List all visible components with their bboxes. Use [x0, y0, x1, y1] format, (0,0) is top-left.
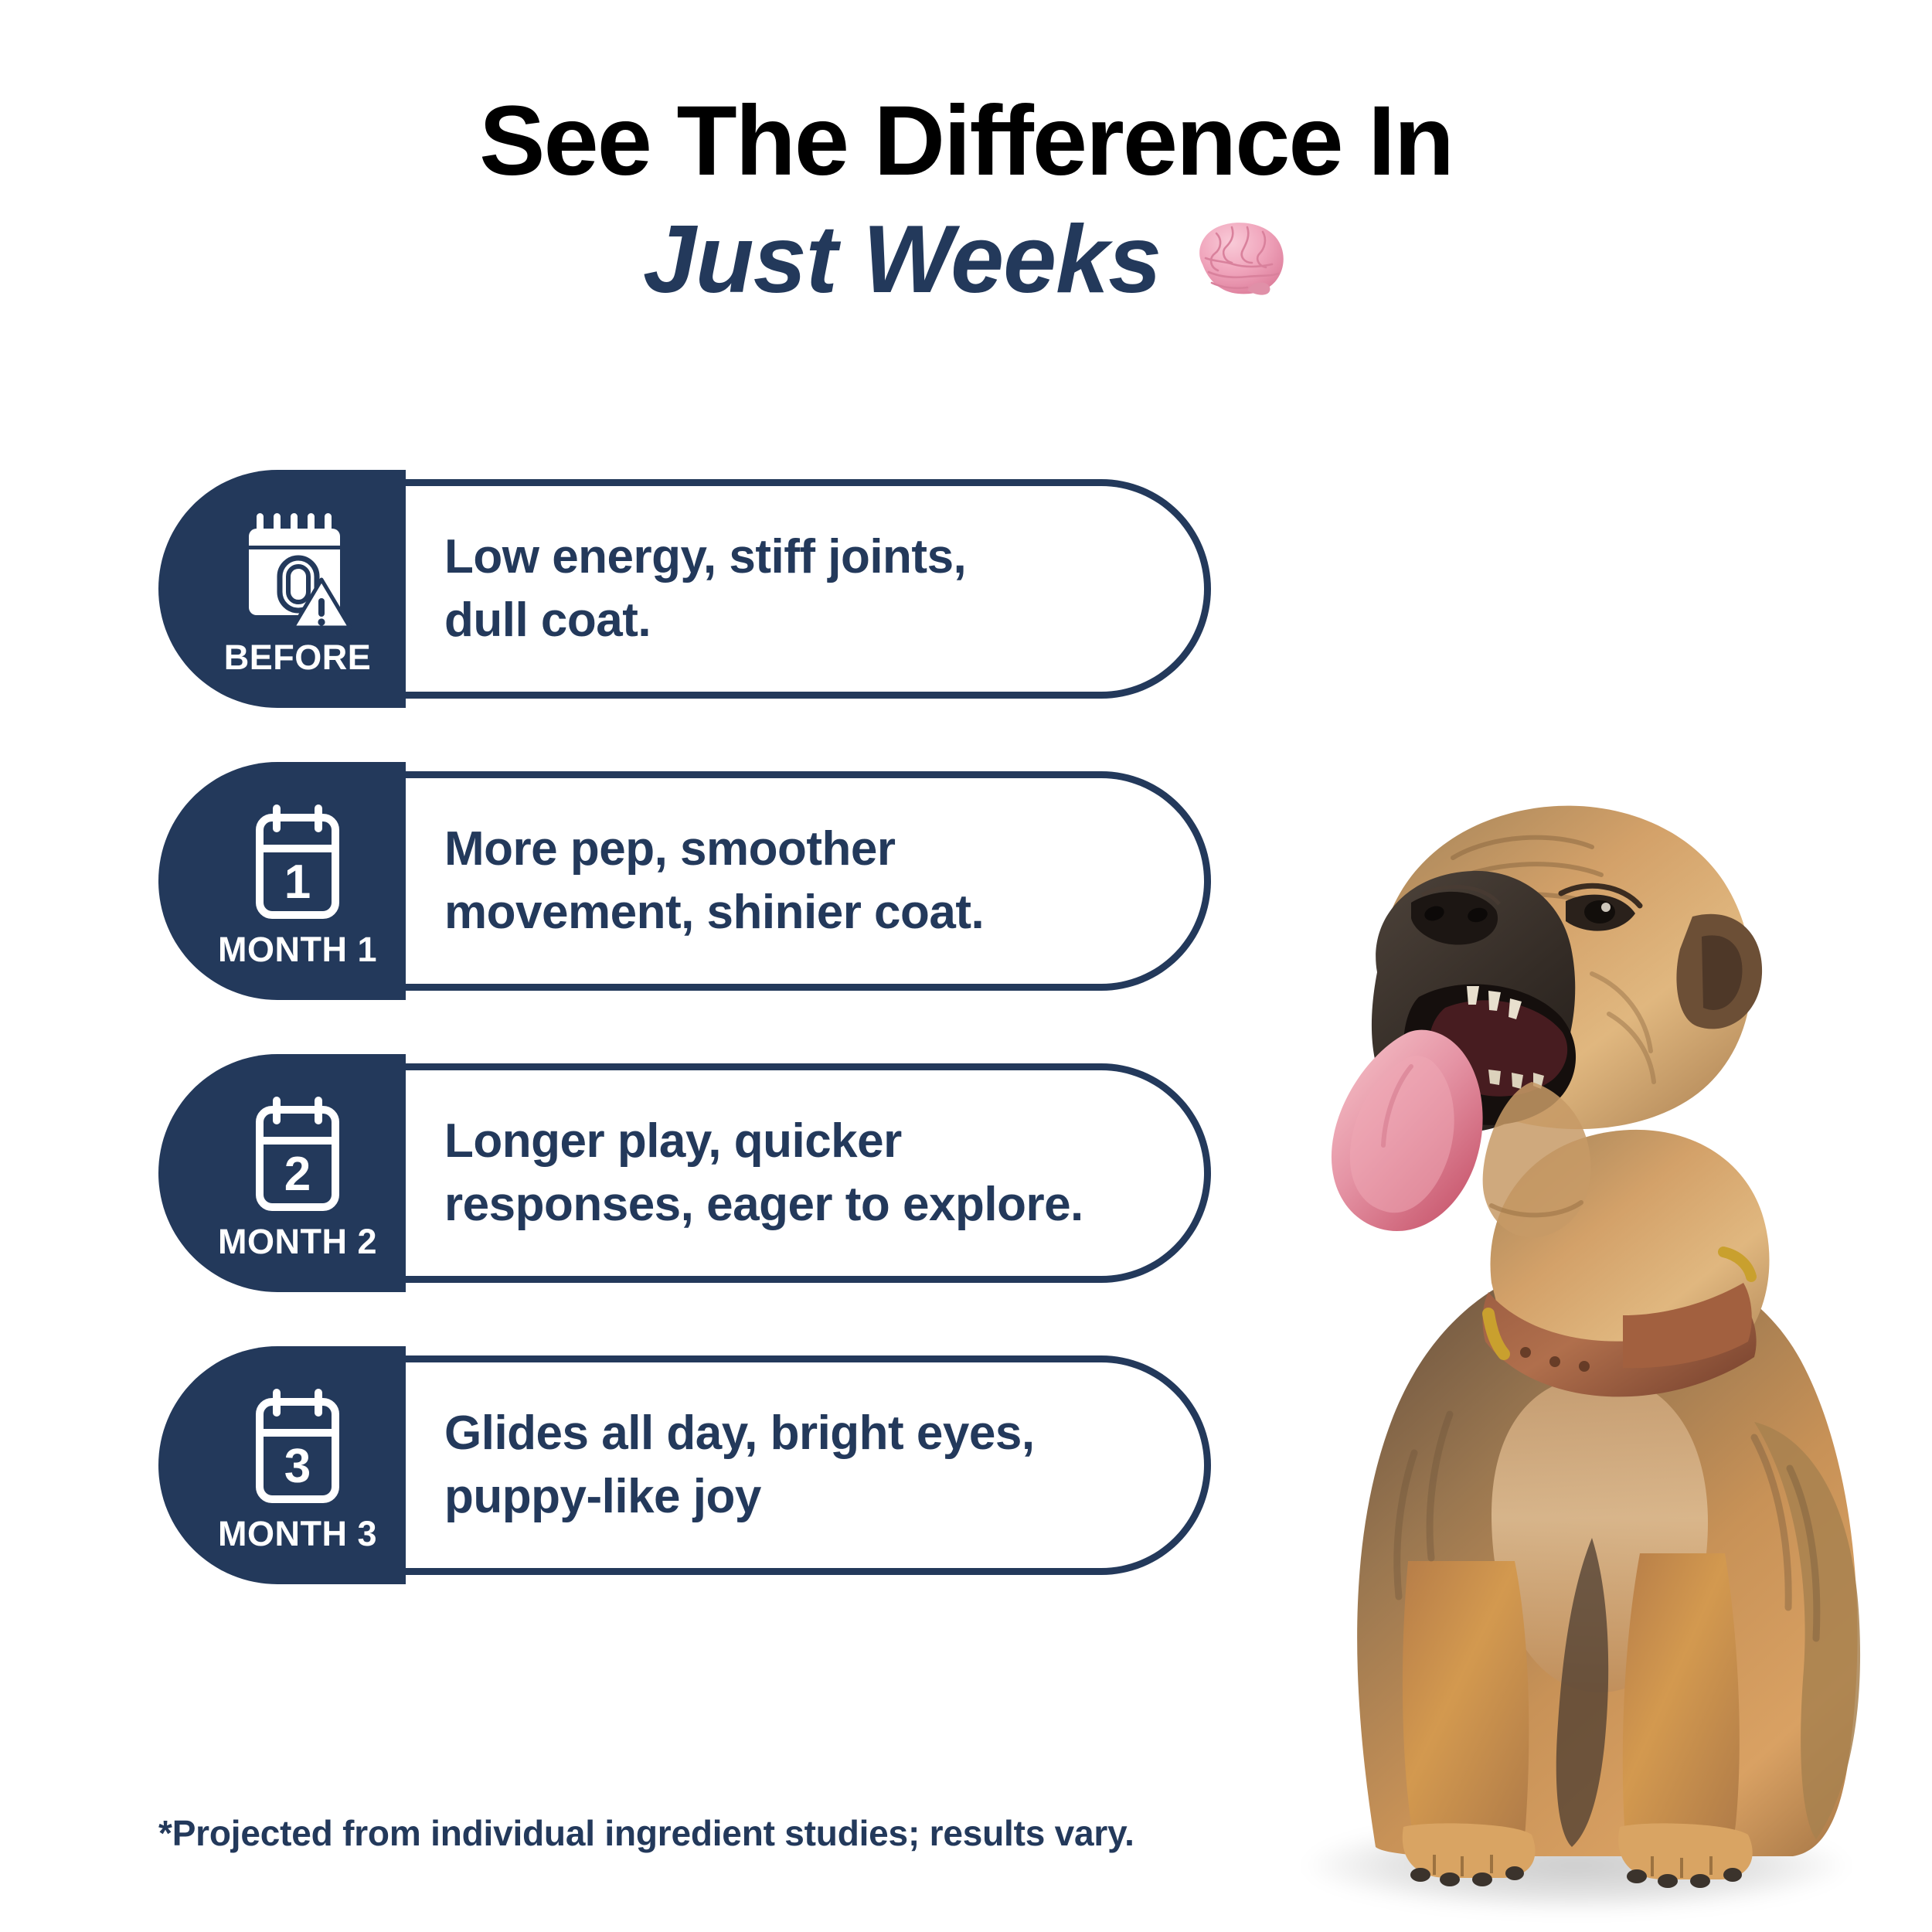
- card-text-line-2: dull coat.: [444, 594, 651, 647]
- calendar-icon: 2: [240, 1096, 355, 1219]
- card-text-line-1: Longer play, quicker: [444, 1114, 902, 1168]
- card-text: Glides all day, bright eyes, puppy-like …: [444, 1346, 1118, 1584]
- title-line-2: Just Weeks: [0, 209, 1932, 310]
- calendar-number: 2: [284, 1148, 311, 1201]
- brain-icon: [1187, 216, 1289, 309]
- disclaimer-text: *Projected from individual ingredient st…: [158, 1812, 1134, 1854]
- timeline-card-month-1[interactable]: 1 MONTH 1 More pep, smoother movement, s…: [158, 762, 1211, 1000]
- page-title: See The Difference In Just Weeks: [0, 91, 1932, 310]
- calendar-zero-warning-icon: [240, 512, 355, 635]
- timeline-card-month-3[interactable]: 3 MONTH 3 Glides all day, bright eyes, p…: [158, 1346, 1211, 1584]
- card-text-line-1: More pep, smoother: [444, 822, 896, 876]
- badge-label: MONTH 1: [218, 932, 377, 967]
- card-badge-before: BEFORE: [158, 470, 406, 708]
- timeline-list: BEFORE Low energy, stiff joints, dull co…: [158, 470, 1240, 1638]
- timeline-card-month-2[interactable]: 2 MONTH 2 Longer play, quicker responses…: [158, 1054, 1211, 1292]
- card-badge-month-2: 2 MONTH 2: [158, 1054, 406, 1292]
- dog-photo: [1260, 742, 1901, 1917]
- calendar-icon: 1: [240, 804, 355, 927]
- calendar-icon: 3: [240, 1388, 355, 1512]
- badge-label: BEFORE: [224, 640, 372, 675]
- card-text: Low energy, stiff joints, dull coat.: [444, 470, 1118, 708]
- card-badge-month-3: 3 MONTH 3: [158, 1346, 406, 1584]
- calendar-number: 3: [284, 1440, 311, 1493]
- timeline-card-before[interactable]: BEFORE Low energy, stiff joints, dull co…: [158, 470, 1211, 708]
- badge-label: MONTH 3: [218, 1516, 377, 1551]
- card-text: Longer play, quicker responses, eager to…: [444, 1054, 1118, 1292]
- card-text-line-2: puppy-like joy: [444, 1470, 761, 1523]
- title-line-1: See The Difference In: [0, 91, 1932, 192]
- card-text: More pep, smoother movement, shinier coa…: [444, 762, 1118, 1000]
- card-text-line-2: responses, eager to explore.: [444, 1178, 1083, 1231]
- card-text-line-1: Glides all day, bright eyes,: [444, 1406, 1035, 1460]
- title-line-2-text: Just Weeks: [643, 209, 1161, 310]
- card-text-line-1: Low energy, stiff joints,: [444, 530, 966, 583]
- card-badge-month-1: 1 MONTH 1: [158, 762, 406, 1000]
- card-text-line-2: movement, shinier coat.: [444, 886, 984, 939]
- infographic-canvas: See The Difference In Just Weeks: [0, 0, 1932, 1932]
- calendar-number: 1: [284, 855, 311, 909]
- badge-label: MONTH 2: [218, 1224, 377, 1259]
